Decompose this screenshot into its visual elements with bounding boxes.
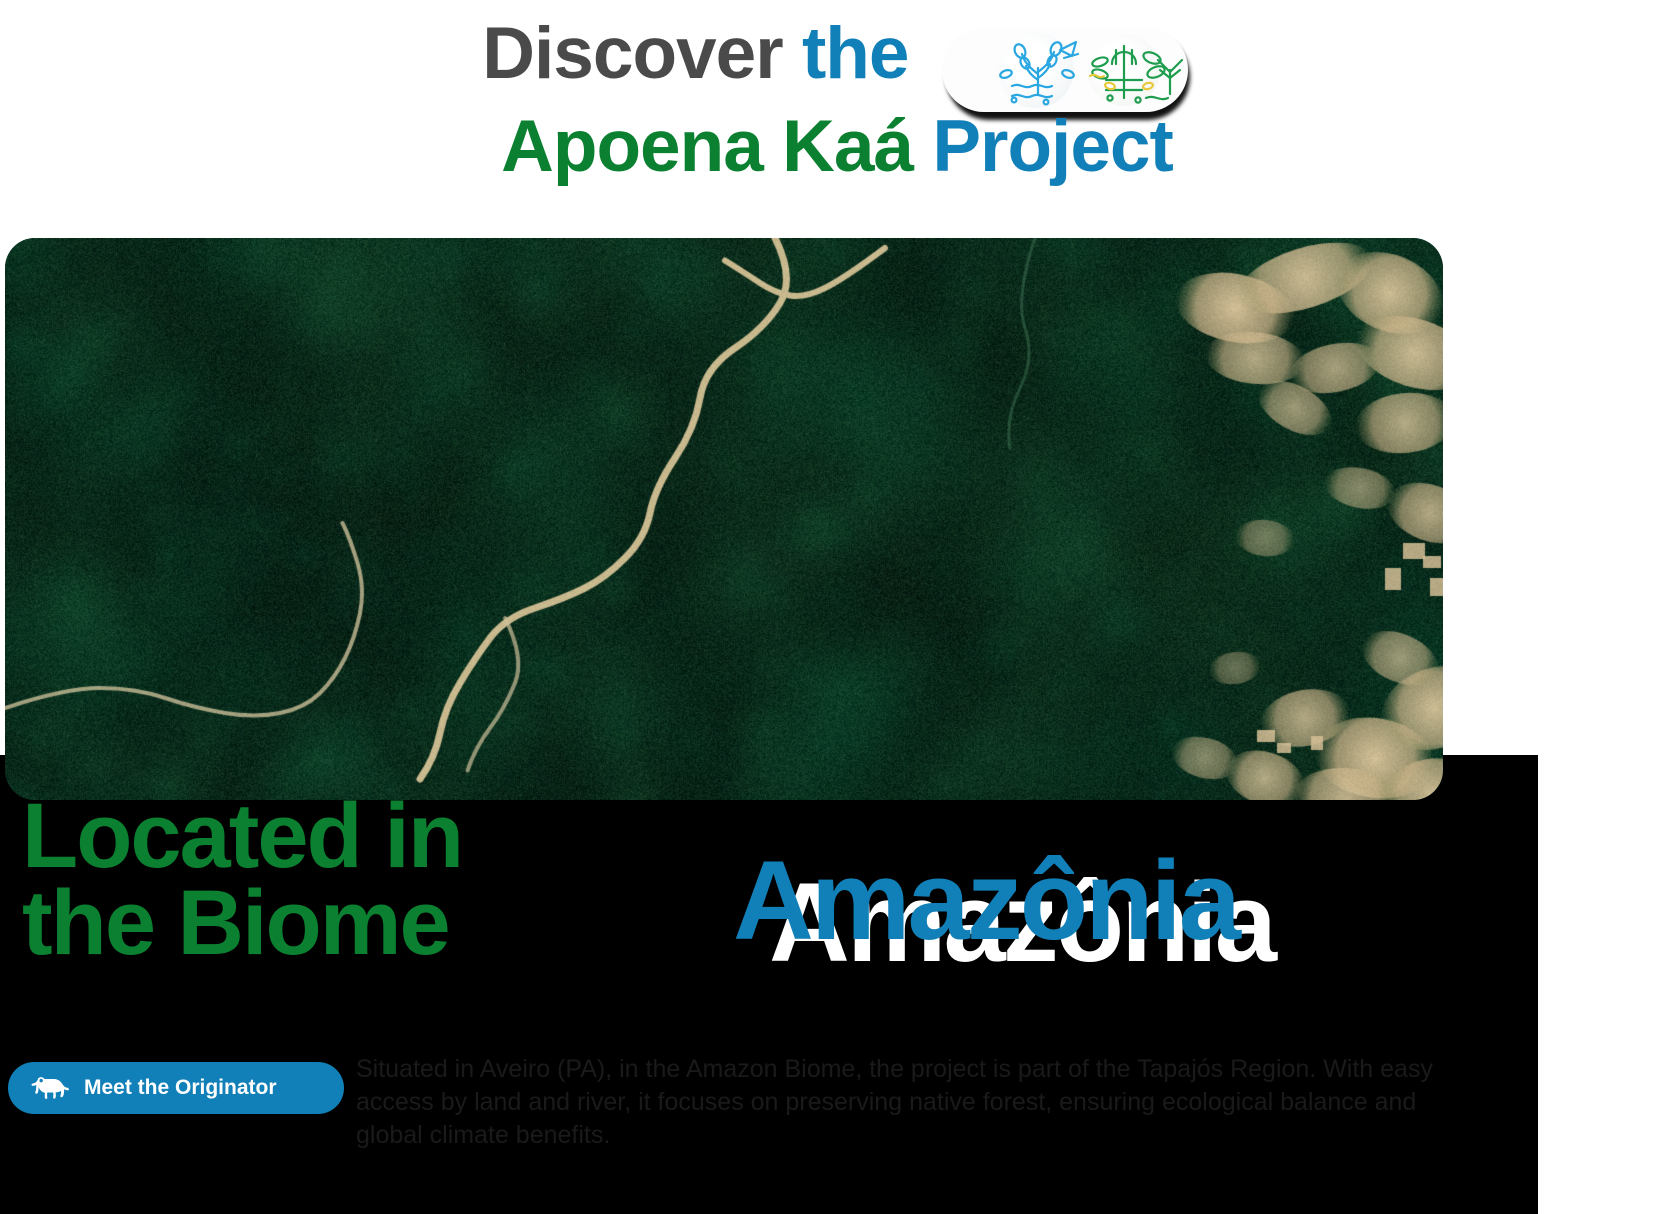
satellite-map-image xyxy=(5,238,1443,800)
cta-label: Meet the Originator xyxy=(84,1076,277,1100)
heading-word-project: Project xyxy=(932,106,1172,187)
biome-name-group: Amazônia Amazônia xyxy=(725,845,1545,985)
logo-nature-line-art xyxy=(942,28,1188,112)
biome-name-text: Amazônia xyxy=(733,845,1238,957)
heading-word-apoena: Apoena xyxy=(501,106,763,187)
heading-word-the: the xyxy=(802,13,909,94)
panel-headline: Located in the Biome xyxy=(22,793,722,968)
heading-line-two: Apoena Kaá Project xyxy=(0,110,1674,183)
heading-word-kaa: Kaá xyxy=(782,106,913,187)
meet-the-originator-button[interactable]: Meet the Originator xyxy=(8,1062,344,1114)
heading-line-one: Discover the xyxy=(0,17,1674,105)
page-heading: Discover the xyxy=(0,0,1674,215)
heading-word-discover: Discover xyxy=(482,13,782,94)
apoena-kaa-logo xyxy=(942,28,1192,116)
jaguar-icon xyxy=(30,1075,72,1101)
project-description: Situated in Aveiro (PA), in the Amazon B… xyxy=(356,1053,1434,1152)
satellite-map-card xyxy=(5,238,1443,800)
logo-pill-body xyxy=(942,28,1188,112)
